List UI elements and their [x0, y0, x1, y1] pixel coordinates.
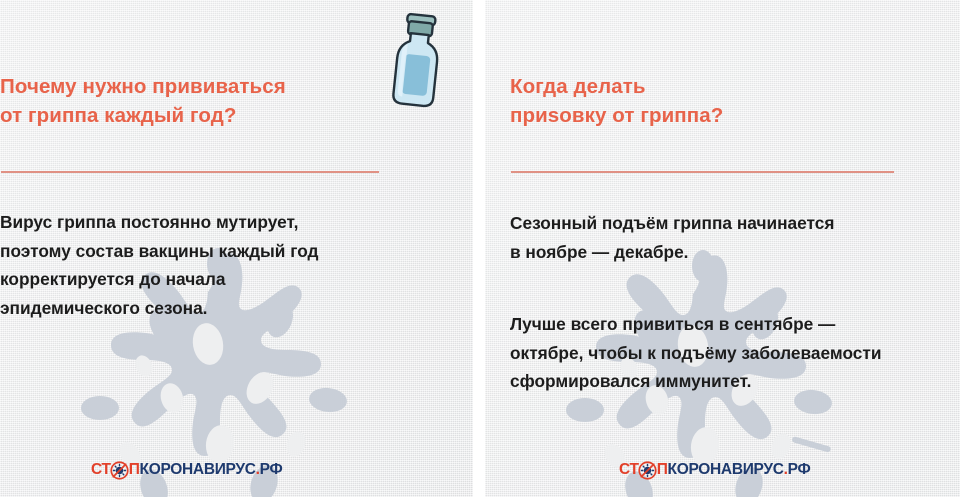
heading-divider — [511, 171, 894, 173]
card-body-paragraph-1: Вирус гриппа постоянно мутирует, поэтому… — [0, 208, 430, 322]
info-card-when-to-vaccinate: Когда делать приsовку от гриппа? Сезонны… — [485, 0, 960, 497]
card-heading: Когда делать приsовку от гриппа? — [510, 72, 930, 130]
logo-text-domain: РФ — [788, 462, 811, 478]
stopkoronavirus-logo[interactable]: СТ — [619, 460, 810, 480]
logo-text-ct: СТ — [91, 462, 111, 478]
card-gutter — [473, 0, 485, 497]
card-heading: Почему нужно прививаться от гриппа кажды… — [0, 72, 420, 130]
card-body-paragraph-2: Лучше всего привиться в сентябре — октяб… — [510, 310, 940, 396]
logo-text-p: П — [129, 462, 140, 478]
card-body-paragraph-1: Сезонный подъём гриппа начинается в нояб… — [510, 209, 940, 266]
stop-virus-icon — [638, 461, 657, 480]
logo-text-koronavirus: КОРОНАВИРУС — [140, 462, 256, 478]
logo-text-ct: СТ — [619, 462, 639, 478]
card-content-right: Когда делать приsовку от гриппа? Сезонны… — [510, 0, 940, 497]
logo-text-p: П — [657, 462, 668, 478]
poster-canvas: Почему нужно прививаться от гриппа кажды… — [0, 0, 960, 497]
logo-text-koronavirus: КОРОНАВИРУС — [668, 462, 784, 478]
info-card-why-vaccinate-yearly: Почему нужно прививаться от гриппа кажды… — [0, 0, 473, 497]
stopkoronavirus-logo[interactable]: СТ — [91, 460, 282, 480]
stop-virus-icon — [110, 461, 129, 480]
logo-text-domain: РФ — [260, 462, 283, 478]
card-content-left: Почему нужно прививаться от гриппа кажды… — [0, 0, 430, 497]
heading-divider — [1, 171, 379, 173]
